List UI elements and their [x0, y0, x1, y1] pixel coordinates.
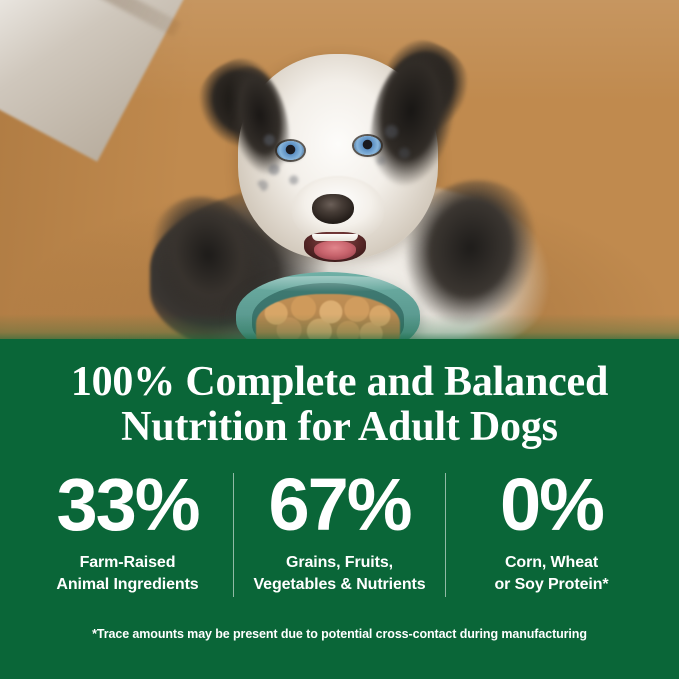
- headline: 100% Complete and Balanced Nutrition for…: [0, 339, 679, 451]
- bowl-rim-highlight: [244, 276, 412, 292]
- stat-value: 67%: [238, 469, 441, 540]
- info-panel: 100% Complete and Balanced Nutrition for…: [0, 339, 679, 679]
- dog-food-infographic-card: 100% Complete and Balanced Nutrition for…: [0, 0, 679, 679]
- stat-label-line-2: or Soy Protein*: [450, 574, 653, 597]
- headline-line-1: 100% Complete and Balanced: [40, 360, 639, 405]
- footnote-disclaimer: *Trace amounts may be present due to pot…: [0, 627, 679, 641]
- stat-label: Grains, Fruits, Vegetables & Nutrients: [238, 552, 441, 597]
- dog-tongue: [314, 241, 356, 260]
- stats-row: 33% Farm-Raised Animal Ingredients 67% G…: [0, 469, 679, 597]
- stat-value: 0%: [450, 469, 653, 540]
- photo-bottom-fade: [0, 314, 679, 340]
- stat-label-line-1: Grains, Fruits,: [238, 552, 441, 575]
- stat-label: Corn, Wheat or Soy Protein*: [450, 552, 653, 597]
- dog-nose: [312, 194, 354, 224]
- stat-label-line-1: Corn, Wheat: [450, 552, 653, 575]
- stat-block-farm-raised: 33% Farm-Raised Animal Ingredients: [22, 469, 233, 597]
- stat-label-line-2: Vegetables & Nutrients: [238, 574, 441, 597]
- dog-teeth: [312, 234, 358, 241]
- stat-label: Farm-Raised Animal Ingredients: [26, 552, 229, 597]
- stat-value: 33%: [26, 469, 229, 540]
- hero-photo: [0, 0, 679, 340]
- stat-block-no-corn-wheat-soy: 0% Corn, Wheat or Soy Protein*: [446, 469, 657, 597]
- stat-block-grains-fruits: 67% Grains, Fruits, Vegetables & Nutrien…: [234, 469, 445, 597]
- stat-label-line-1: Farm-Raised: [26, 552, 229, 575]
- headline-line-2: Nutrition for Adult Dogs: [40, 405, 639, 450]
- dog-eye-left: [277, 141, 304, 160]
- dog-eye-right: [354, 136, 381, 155]
- dog-mouth: [304, 232, 366, 262]
- stat-label-line-2: Animal Ingredients: [26, 574, 229, 597]
